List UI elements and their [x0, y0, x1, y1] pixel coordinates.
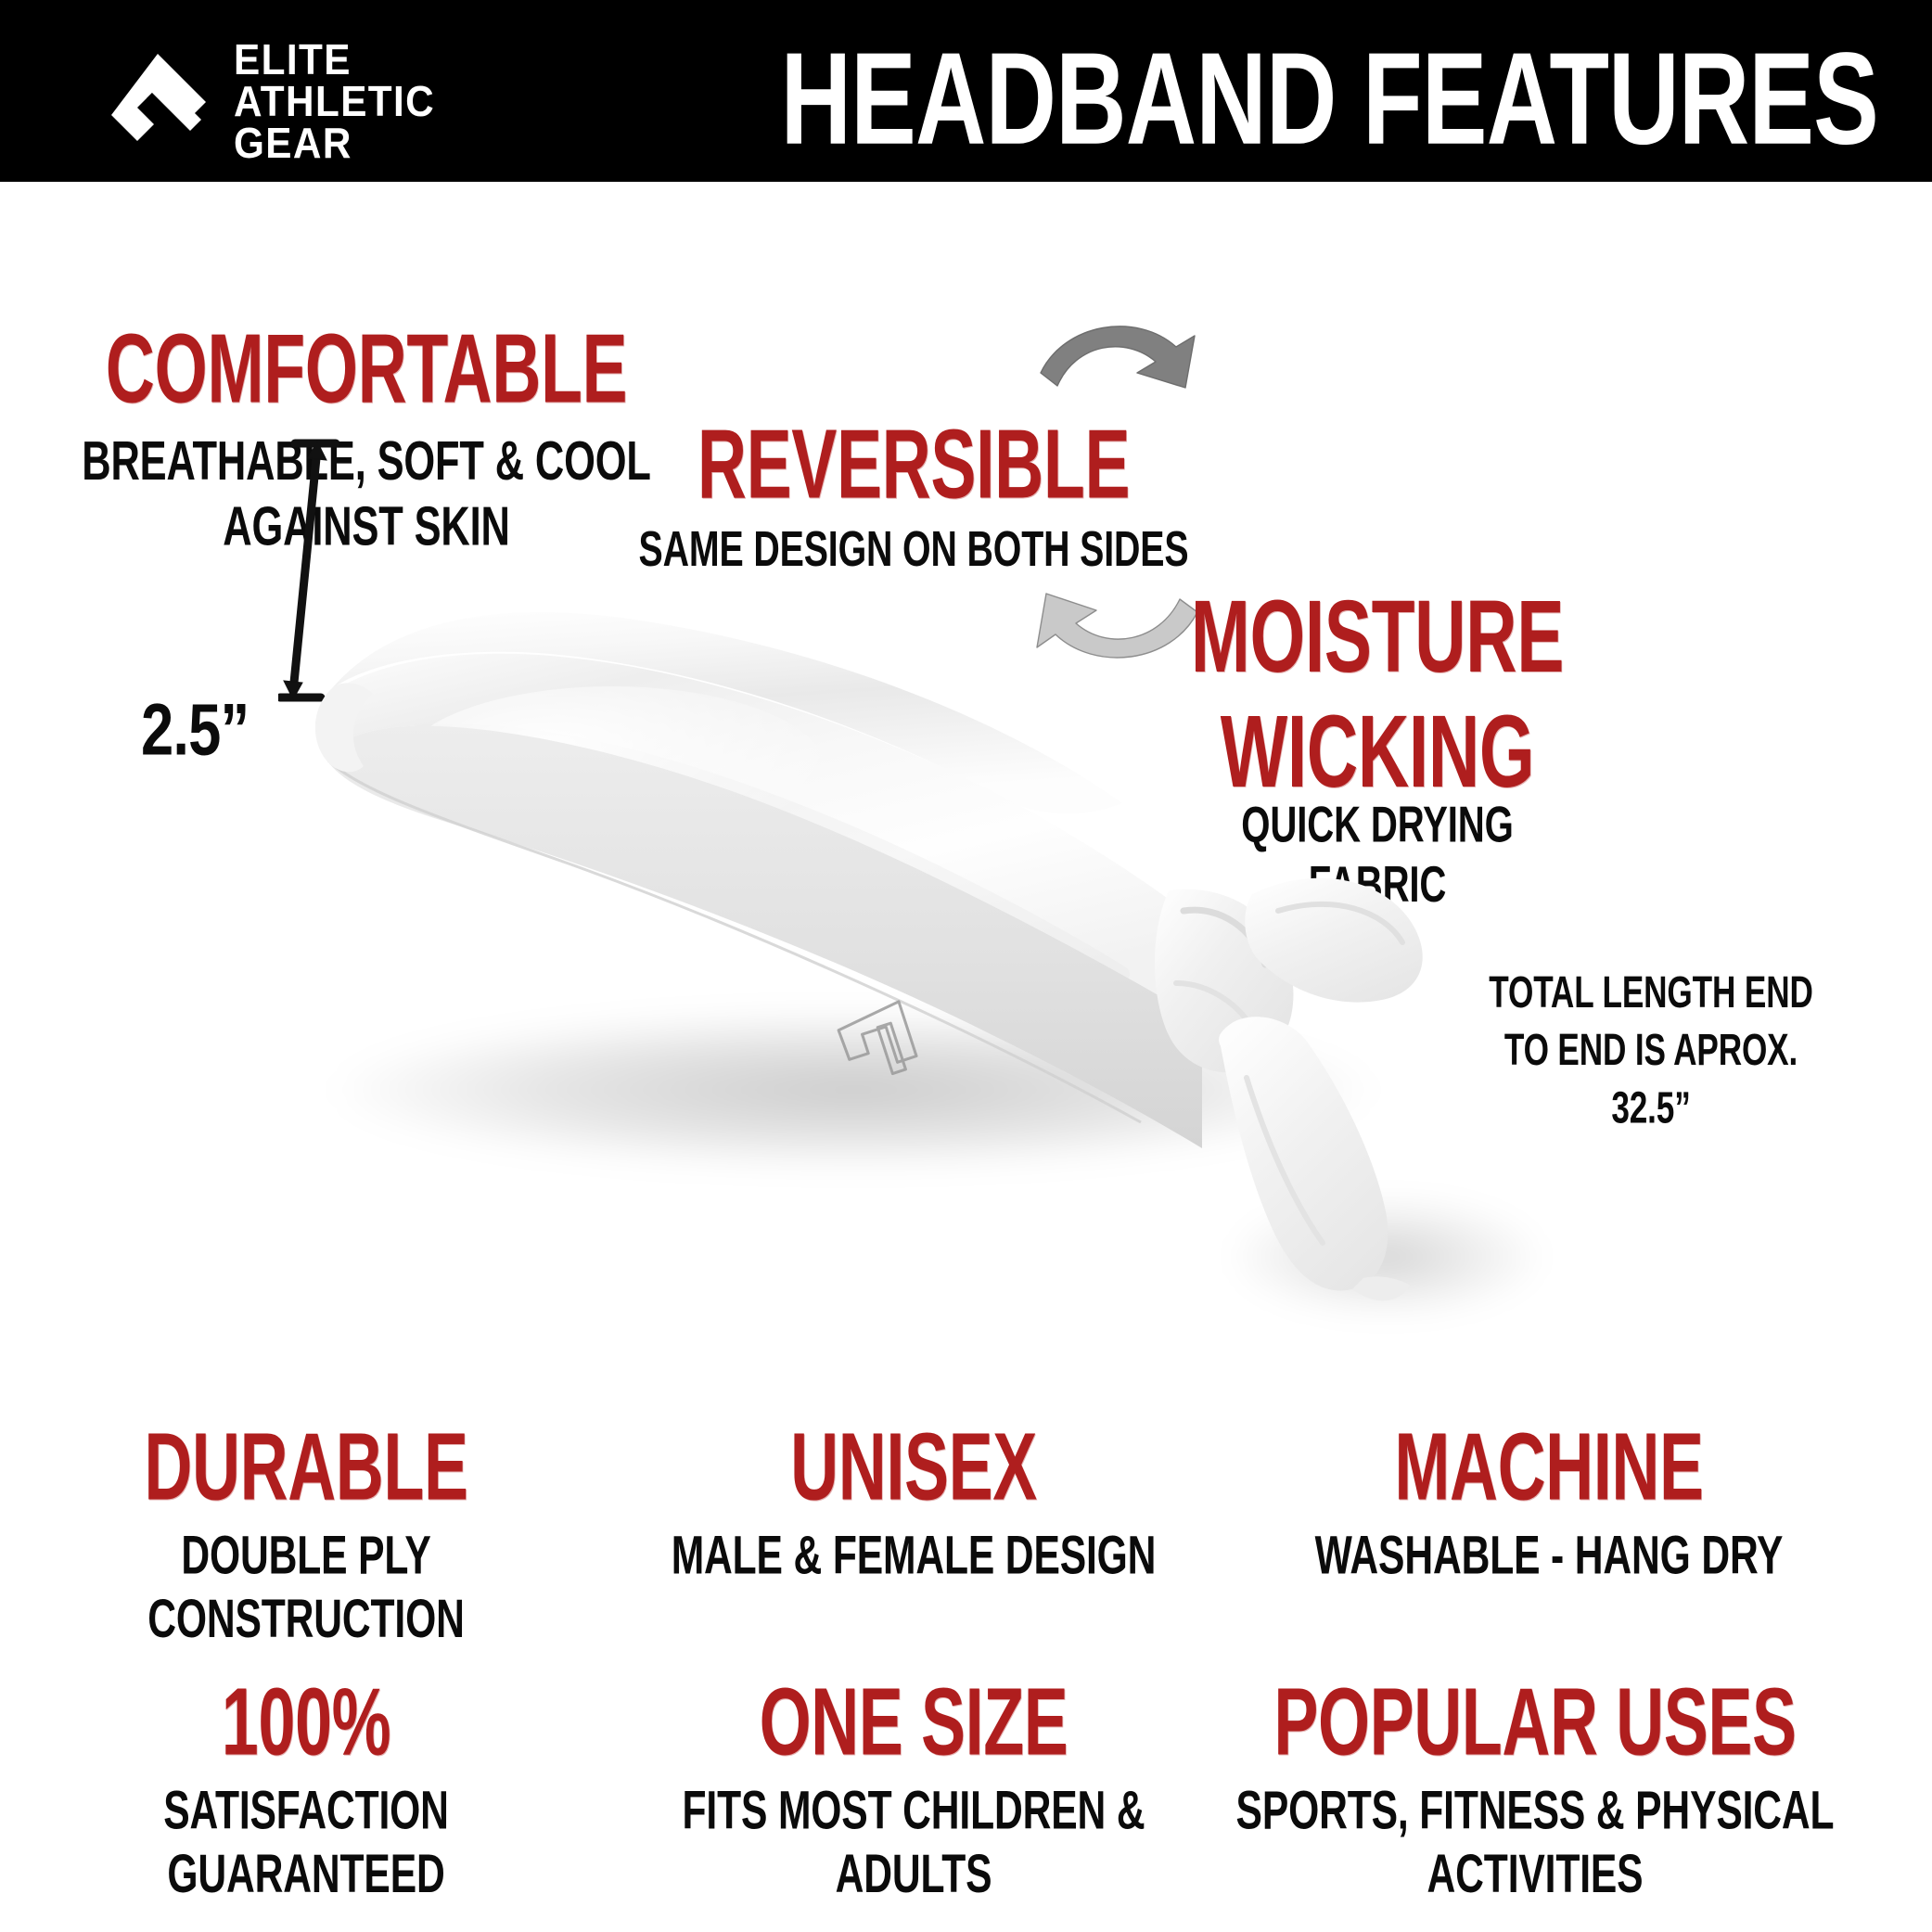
feature-machine-subtext: WASHABLE - HANG DRY: [1260, 1525, 1837, 1589]
feature-popular-uses-subtext: SPORTS, FITNESS & PHYSICAL ACTIVITIES: [1227, 1780, 1843, 1907]
feature-satisfaction: 100% SATISFACTION GUARANTEED: [28, 1674, 584, 1894]
brand-line-3: GEAR: [234, 122, 435, 164]
feature-comfortable-subtext: BREATHABLE, SOFT & COOL AGAINST SKIN: [82, 429, 652, 559]
feature-machine-heading: MACHINE: [1267, 1419, 1831, 1516]
brand-line-2: ATHLETIC: [234, 81, 435, 122]
brand-line-1: ELITE: [234, 39, 435, 81]
page-title: HEADBAND FEATURES: [781, 33, 1771, 164]
brand-lockup: ELITE ATHLETIC GEAR: [109, 39, 453, 164]
feature-one-size-heading: ONE SIZE: [628, 1674, 1199, 1771]
feature-unisex-subtext: MALE & FEMALE DESIGN: [624, 1525, 1202, 1589]
headband-width-label: 2.5”: [141, 688, 249, 772]
feature-comfortable-heading: COMFORTABLE: [88, 320, 645, 418]
elite-athletic-gear-chevron-logo: [109, 50, 210, 154]
white-tie-back-headband-photo: [306, 584, 1512, 1326]
feature-reversible: REVERSIBLE SAME DESIGN ON BOTH SIDES: [575, 416, 1252, 574]
feature-satisfaction-subtext: SATISFACTION GUARANTEED: [78, 1780, 534, 1907]
feature-unisex: UNISEX MALE & FEMALE DESIGN: [561, 1419, 1266, 1581]
feature-reversible-subtext: SAME DESIGN ON BOTH SIDES: [636, 521, 1192, 580]
total-length-text: TOTAL LENGTH END TO END IS APROX. 32.5”: [1488, 965, 1814, 1137]
header-bar: ELITE ATHLETIC GEAR HEADBAND FEATURES: [0, 0, 1932, 182]
feature-popular-uses: POPULAR USES SPORTS, FITNESS & PHYSICAL …: [1159, 1674, 1911, 1894]
feature-popular-uses-heading: POPULAR USES: [1235, 1674, 1836, 1771]
feature-one-size-subtext: FITS MOST CHILDREN & ADULTS: [621, 1780, 1206, 1907]
feature-durable-heading: DURABLE: [76, 1419, 536, 1516]
feature-reversible-heading: REVERSIBLE: [643, 416, 1184, 514]
feature-durable-subtext: DOUBLE PLY CONSTRUCTION: [70, 1525, 542, 1652]
brand-wordmark: ELITE ATHLETIC GEAR: [234, 39, 435, 164]
feature-unisex-heading: UNISEX: [632, 1419, 1196, 1516]
feature-satisfaction-heading: 100%: [83, 1674, 529, 1771]
feature-machine: MACHINE WASHABLE - HANG DRY: [1196, 1419, 1901, 1581]
feature-durable: DURABLE DOUBLE PLY CONSTRUCTION: [19, 1419, 594, 1639]
infographic-page: ELITE ATHLETIC GEAR HEADBAND FEATURES CO…: [0, 0, 1932, 1932]
curved-arrow-right-icon: [1037, 315, 1199, 399]
